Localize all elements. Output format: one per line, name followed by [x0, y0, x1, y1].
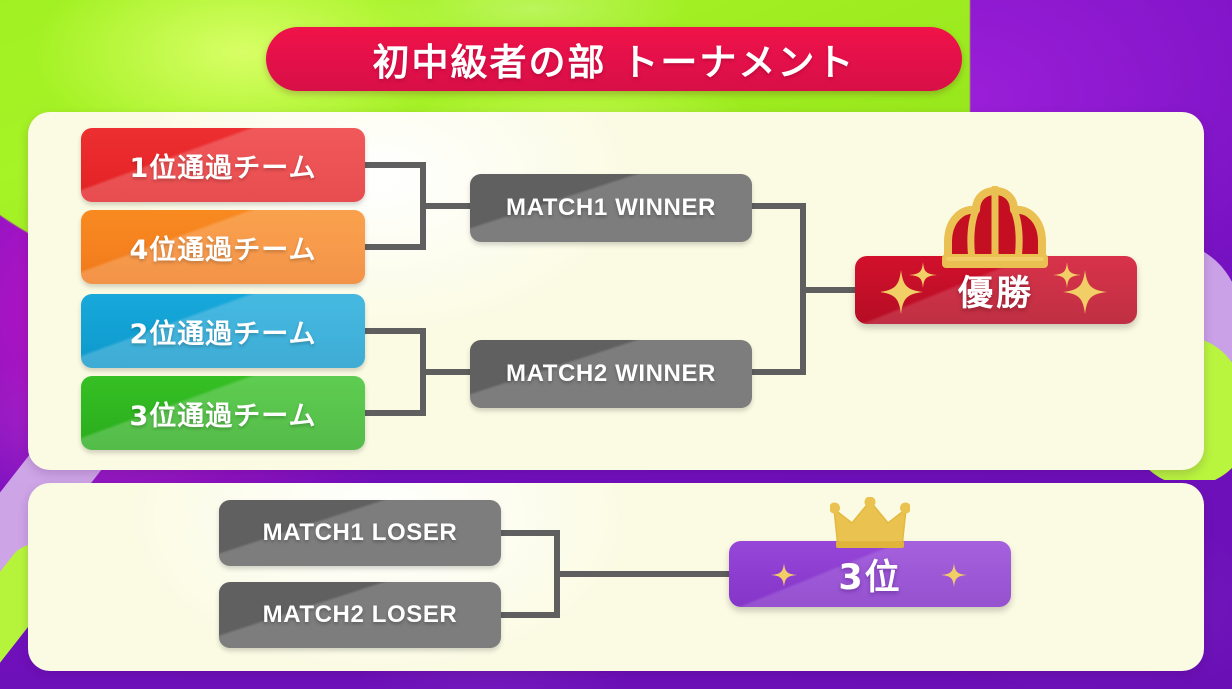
- match2-winner-label: MATCH2 WINNER: [506, 360, 716, 388]
- match1-loser-box[interactable]: MATCH1 LOSER: [219, 500, 501, 566]
- connector-to-match2-winner: [420, 369, 476, 375]
- connector-seed4-stub: [364, 244, 426, 250]
- seed-box-rank3[interactable]: 3位通過チーム: [81, 376, 365, 450]
- seed-label-rank3: 3位通過チーム: [130, 394, 317, 433]
- seed-box-rank1[interactable]: 1位通過チーム: [81, 128, 365, 202]
- sparkle-icon-left-large: [881, 270, 933, 314]
- connector-to-champion: [800, 287, 860, 293]
- third-place-label: 3位: [838, 549, 901, 600]
- page-title-banner: 初中級者の部 トーナメント: [266, 27, 962, 91]
- match1-winner-label: MATCH1 WINNER: [506, 194, 716, 222]
- connector-to-third-place: [554, 571, 734, 577]
- match2-winner-box[interactable]: MATCH2 WINNER: [470, 340, 752, 408]
- connector-seed3-stub: [364, 410, 426, 416]
- simple-crown-icon: [830, 497, 910, 554]
- sparkle-icon-left-small: [909, 262, 937, 288]
- connector-loser2-stub: [498, 612, 560, 618]
- sparkle-icon-third-left: [771, 563, 797, 587]
- seed-label-rank4: 4位通過チーム: [130, 228, 317, 267]
- sparkle-icon-third-right: [941, 563, 967, 587]
- match2-loser-box[interactable]: MATCH2 LOSER: [219, 582, 501, 648]
- tournament-bracket-graphic: 初中級者の部 トーナメント 1位通過チーム 4位通過チーム 2位通過チーム 3位…: [0, 0, 1232, 689]
- royal-crown-icon: [936, 186, 1054, 273]
- sparkle-icon-right-small: [1053, 262, 1081, 288]
- sparkle-icon-right-large: [1057, 270, 1109, 314]
- connector-winner1-stub: [748, 203, 806, 209]
- match2-loser-label: MATCH2 LOSER: [263, 601, 458, 629]
- page-title: 初中級者の部 トーナメント: [373, 32, 856, 86]
- seed-label-rank2: 2位通過チーム: [130, 312, 317, 351]
- connector-seed1-stub: [364, 162, 426, 168]
- connector-to-match1-winner: [420, 203, 476, 209]
- match1-loser-label: MATCH1 LOSER: [263, 519, 458, 547]
- connector-loser1-stub: [498, 530, 560, 536]
- seed-box-rank4[interactable]: 4位通過チーム: [81, 210, 365, 284]
- match1-winner-box[interactable]: MATCH1 WINNER: [470, 174, 752, 242]
- seed-box-rank2[interactable]: 2位通過チーム: [81, 294, 365, 368]
- connector-winner2-stub: [748, 369, 806, 375]
- connector-seed2-stub: [364, 328, 426, 334]
- seed-label-rank1: 1位通過チーム: [130, 146, 317, 185]
- lower-bracket-panel: [28, 483, 1204, 671]
